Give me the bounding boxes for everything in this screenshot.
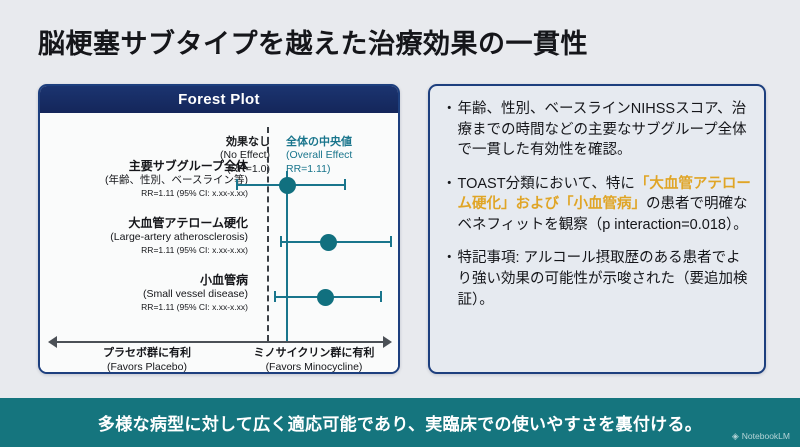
forest-row-ci-cap-high — [380, 291, 382, 302]
overall-effect-value: RR=1.11) — [286, 163, 352, 176]
x-axis-line — [56, 341, 384, 343]
forest-row-label-en: (年齢、性別、ベースライン等) — [38, 174, 248, 187]
forest-row-ci-cap-high — [390, 236, 392, 247]
overall-effect-label-jp: 全体の中央値 — [286, 135, 352, 149]
overall-effect-annotation: 全体の中央値 (Overall Effect RR=1.11) — [286, 135, 352, 176]
forest-row-point-estimate — [279, 177, 296, 194]
forest-plot-body: 効果なし (No Effect) (RR=1.0) 全体の中央値 (Overal… — [40, 113, 398, 372]
list-item-text: TOAST分類において、特に「大血管アテローム硬化」および「小血管病」の患者で明… — [458, 174, 753, 236]
forest-row-label-jp: 大血管アテローム硬化 — [38, 216, 248, 231]
list-item: ・ 特記事項: アルコール摂取歴のある患者でより強い効果の可能性が示唆された（要… — [442, 248, 752, 310]
page-title: 脳梗塞サブタイプを越えた治療効果の一貫性 — [38, 22, 588, 61]
forest-row-label: 小血管病 (Small vessel disease) RR=1.11 (95%… — [38, 273, 248, 313]
forest-row-ci-cap-high — [344, 179, 346, 190]
no-effect-label-jp: 効果なし — [220, 135, 270, 149]
forest-row-label: 大血管アテローム硬化 (Large-artery atherosclerosis… — [38, 216, 248, 256]
forest-plot-panel: Forest Plot 効果なし (No Effect) (RR=1.0) 全体… — [38, 84, 400, 374]
axis-label-favors-minocycline-en: (Favors Minocycline) — [228, 361, 400, 374]
notebooklm-logo-icon: ◈ — [732, 432, 739, 441]
findings-panel: ・ 年齢、性別、ベースラインNIHSSスコア、治療までの時間などの主要なサブグル… — [428, 84, 766, 374]
axis-label-favors-placebo-jp: プラセボ群に有利 — [62, 347, 232, 361]
list-item: ・ 年齢、性別、ベースラインNIHSSスコア、治療までの時間などの主要なサブグル… — [442, 99, 752, 161]
forest-row-stat: RR=1.11 (95% CI: x.xx-x.xx) — [38, 302, 248, 313]
forest-row-point-estimate — [320, 234, 337, 251]
summary-banner-text: 多様な病型に対して広く適応可能であり、実臨床での使いやすさを裏付ける。 — [98, 410, 702, 435]
x-axis-arrow-left-icon — [48, 336, 57, 348]
no-effect-reference-line — [267, 127, 269, 341]
list-item-text: 年齢、性別、ベースラインNIHSSスコア、治療までの時間などの主要なサブグループ… — [458, 99, 753, 161]
notebooklm-watermark: ◈ NotebookLM — [732, 431, 790, 441]
forest-row-stat: RR=1.11 (95% CI: x.xx-x.xx) — [38, 188, 248, 199]
axis-label-favors-minocycline-jp: ミノサイクリン群に有利 — [228, 347, 400, 361]
forest-plot-title: Forest Plot — [178, 91, 260, 108]
forest-row-label-en: (Small vessel disease) — [38, 288, 248, 301]
axis-label-favors-minocycline: ミノサイクリン群に有利 (Favors Minocycline) — [228, 347, 400, 374]
bullet-marker-icon: ・ — [442, 248, 457, 310]
overall-effect-reference-line — [286, 171, 288, 343]
notebooklm-watermark-label: NotebookLM — [742, 431, 790, 441]
forest-row-label-en: (Large-artery atherosclerosis) — [38, 231, 248, 244]
axis-label-favors-placebo-en: (Favors Placebo) — [62, 361, 232, 374]
forest-row-label: 主要サブグループ全体 (年齢、性別、ベースライン等) RR=1.11 (95% … — [38, 159, 248, 199]
bullet-segment: TOAST分類において、特に — [458, 176, 635, 192]
forest-row-ci-cap-low — [280, 236, 282, 247]
forest-row-ci-cap-low — [236, 179, 238, 190]
forest-row-label-jp: 小血管病 — [38, 273, 248, 288]
forest-row-point-estimate — [317, 289, 334, 306]
bullet-marker-icon: ・ — [442, 99, 457, 161]
bullet-segment: 年齢、性別、ベースラインNIHSSスコア、治療までの時間などの主要なサブグループ… — [458, 101, 747, 158]
summary-banner: 多様な病型に対して広く適応可能であり、実臨床での使いやすさを裏付ける。 ◈ No… — [0, 398, 800, 447]
bullet-segment: 特記事項: アルコール摂取歴のある患者でより強い効果の可能性が示唆された（要追加… — [458, 250, 748, 307]
list-item: ・ TOAST分類において、特に「大血管アテローム硬化」および「小血管病」の患者… — [442, 174, 752, 236]
forest-row-stat: RR=1.11 (95% CI: x.xx-x.xx) — [38, 245, 248, 256]
axis-label-favors-placebo: プラセボ群に有利 (Favors Placebo) — [62, 347, 232, 374]
forest-plot-header: Forest Plot — [40, 86, 398, 113]
bullet-marker-icon: ・ — [442, 174, 457, 236]
list-item-text: 特記事項: アルコール摂取歴のある患者でより強い効果の可能性が示唆された（要追加… — [458, 248, 753, 310]
forest-row-label-jp: 主要サブグループ全体 — [38, 159, 248, 174]
overall-effect-label-en: (Overall Effect — [286, 149, 352, 162]
forest-row-ci-cap-low — [274, 291, 276, 302]
